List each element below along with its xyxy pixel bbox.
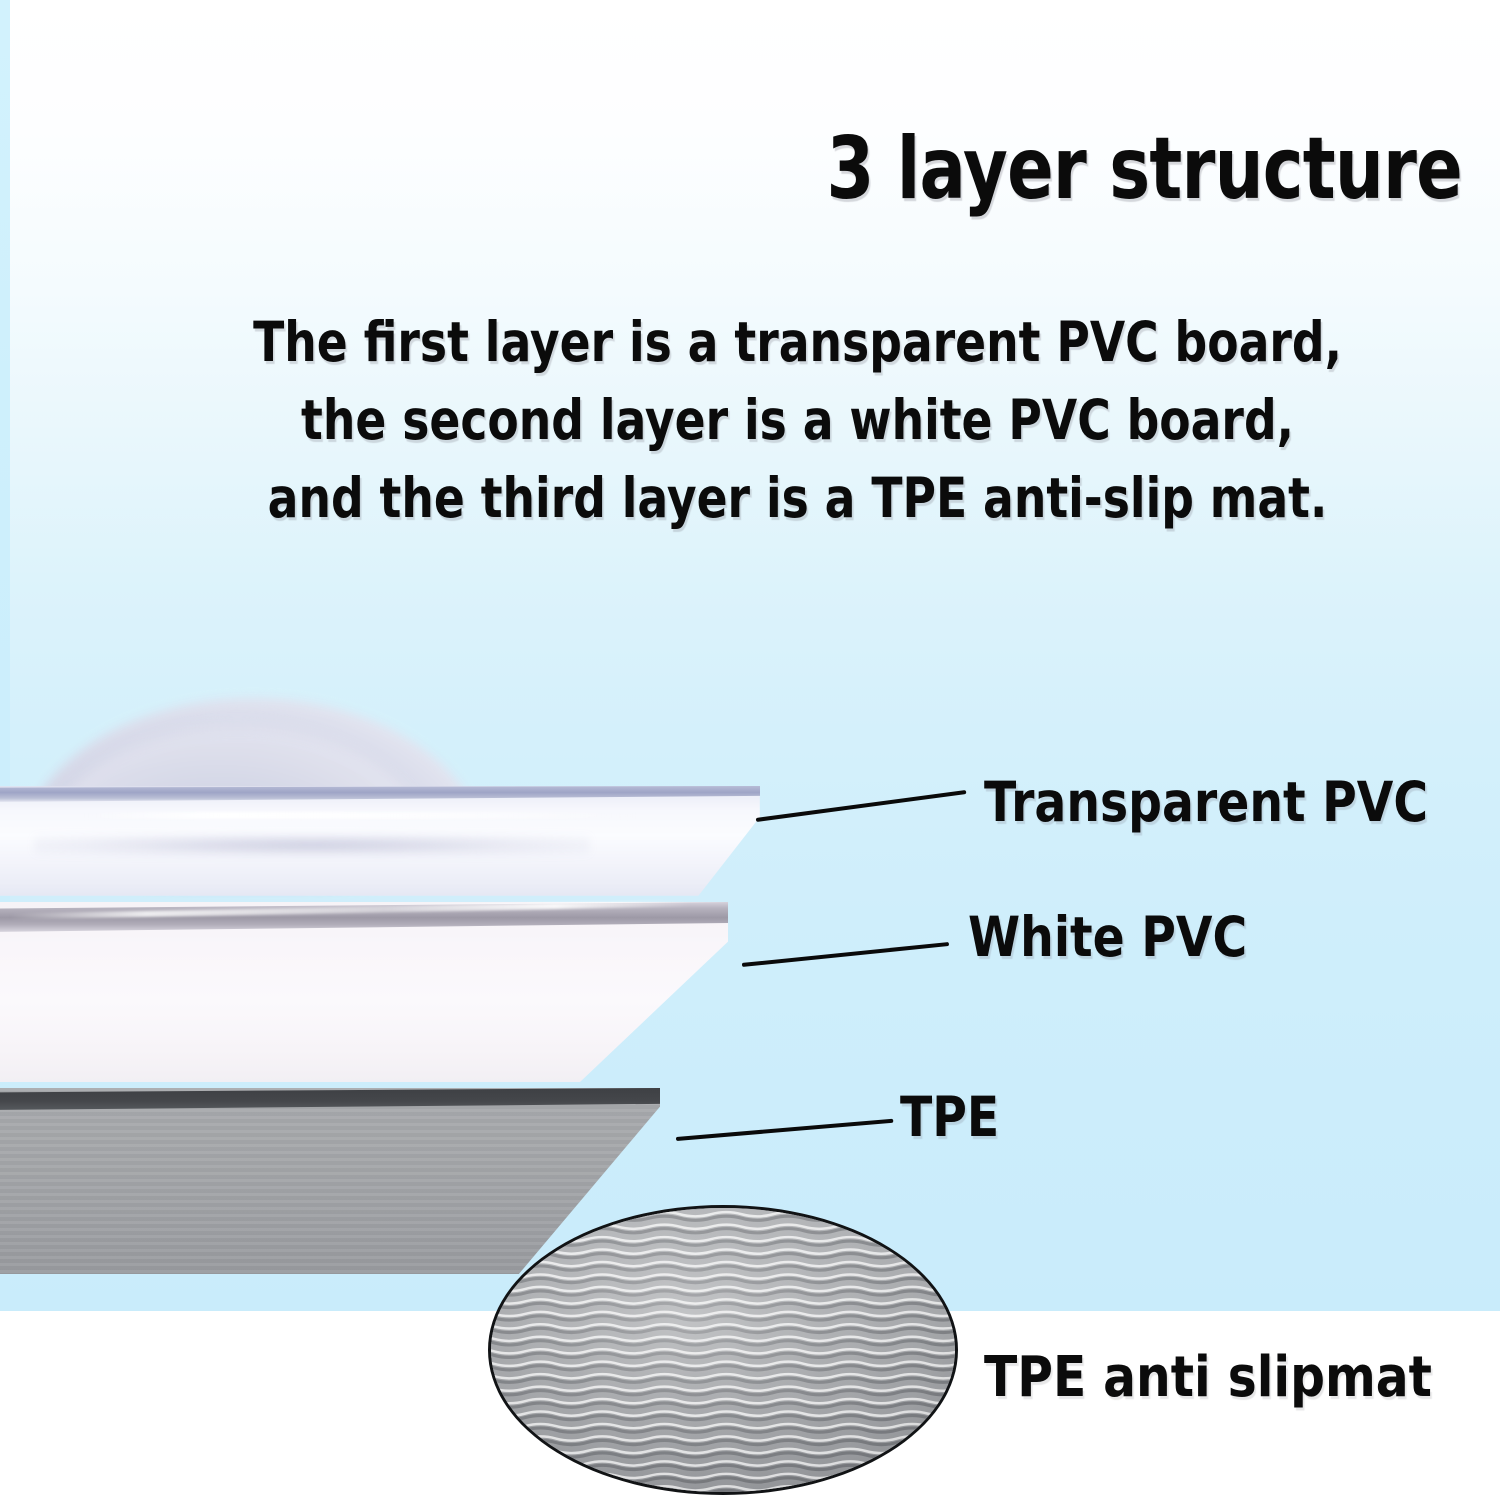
tpe-wave-pattern [488, 1205, 958, 1495]
tpe-swatch-oval [488, 1205, 958, 1495]
transparent-pvc-reflection [34, 834, 590, 856]
page-title: 3 layer structure [292, 126, 1462, 212]
callout-label-white-pvc: White PVC [968, 905, 1247, 969]
layer-white-pvc [0, 902, 728, 1082]
layer-transparent-pvc [0, 786, 760, 896]
callout-label-tpe: TPE [900, 1085, 999, 1149]
infographic-canvas: 3 layer structure The first layer is a t… [0, 0, 1500, 1496]
tpe-swatch-caption: TPE anti slipmat [984, 1345, 1432, 1410]
transparent-pvc-glint [81, 812, 637, 819]
description-line-3: and the third layer is a TPE anti-slip m… [235, 459, 1360, 537]
description-line-1: The first layer is a transparent PVC boa… [235, 303, 1360, 381]
callout-label-transparent-pvc: Transparent PVC [984, 770, 1428, 834]
description-line-2: the second layer is a white PVC board, [235, 381, 1360, 459]
description-text: The first layer is a transparent PVC boa… [235, 303, 1360, 537]
layer-stack-illustration [0, 690, 800, 1290]
